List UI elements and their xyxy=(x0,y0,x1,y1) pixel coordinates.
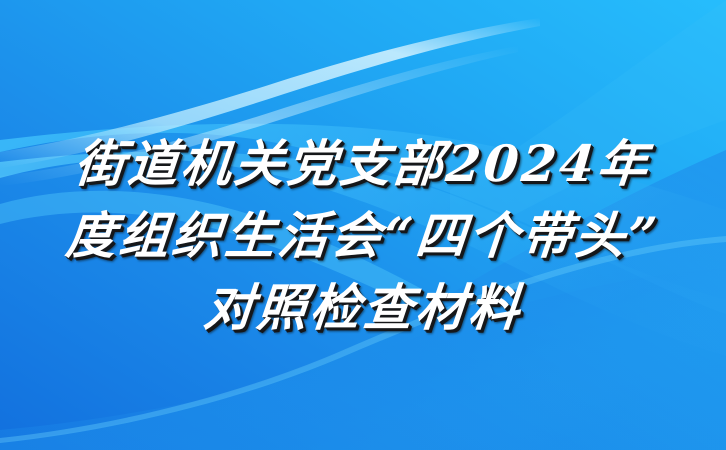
title-banner: 街道机关党支部2024年 度组织生活会“四个带头” 对照检查材料 xyxy=(0,0,726,450)
background-artwork xyxy=(0,0,726,450)
